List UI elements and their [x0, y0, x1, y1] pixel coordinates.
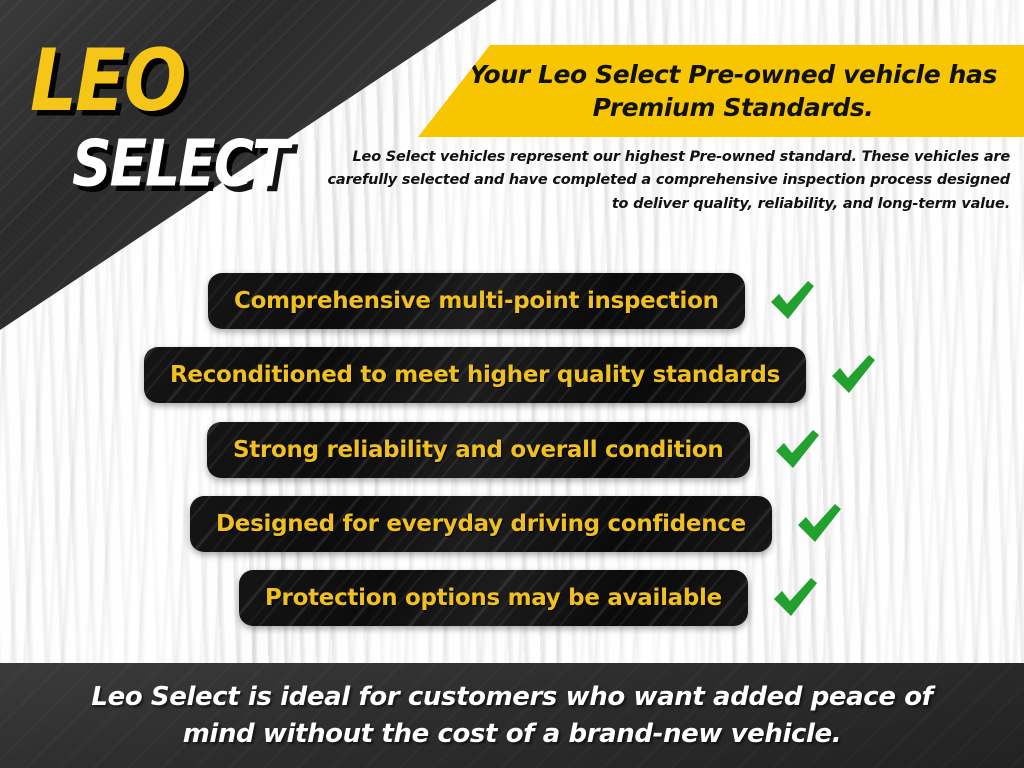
feature-pill: Comprehensive multi-point inspection — [208, 273, 745, 329]
check-icon — [770, 575, 820, 621]
feature-pill: Protection options may be available — [239, 570, 748, 626]
footer-band: Leo Select is ideal for customers who wa… — [0, 663, 1024, 768]
feature-label: Reconditioned to meet higher quality sta… — [170, 362, 780, 388]
feature-pill: Reconditioned to meet higher quality sta… — [144, 347, 806, 403]
feature-row: Comprehensive multi-point inspection — [208, 273, 817, 329]
feature-pill: Designed for everyday driving confidence — [190, 496, 772, 552]
logo-text-leo: LEO — [30, 38, 185, 124]
feature-label: Comprehensive multi-point inspection — [234, 288, 719, 314]
feature-pill: Strong reliability and overall condition — [207, 422, 750, 478]
check-icon — [828, 352, 878, 398]
feature-label: Protection options may be available — [265, 585, 722, 611]
footer-text: Leo Select is ideal for customers who wa… — [62, 679, 962, 753]
feature-row: Strong reliability and overall condition — [207, 422, 822, 478]
leo-select-poster: LEO SELECT Your Leo Select Pre-owned veh… — [0, 0, 1024, 768]
check-icon — [794, 501, 844, 547]
logo-text-select: SELECT — [72, 132, 288, 196]
feature-label: Strong reliability and overall condition — [233, 437, 724, 463]
headline-banner: Your Leo Select Pre-owned vehicle has Pr… — [404, 45, 1024, 137]
check-icon — [772, 427, 822, 473]
feature-row: Reconditioned to meet higher quality sta… — [144, 347, 878, 403]
feature-row: Protection options may be available — [239, 570, 820, 626]
check-icon — [767, 278, 817, 324]
headline-text: Your Leo Select Pre-owned vehicle has Pr… — [404, 58, 1024, 125]
brand-logo: LEO SELECT — [28, 38, 328, 178]
feature-label: Designed for everyday driving confidence — [216, 511, 746, 537]
feature-row: Designed for everyday driving confidence — [190, 496, 844, 552]
intro-paragraph: Leo Select vehicles represent our highes… — [310, 146, 1010, 216]
